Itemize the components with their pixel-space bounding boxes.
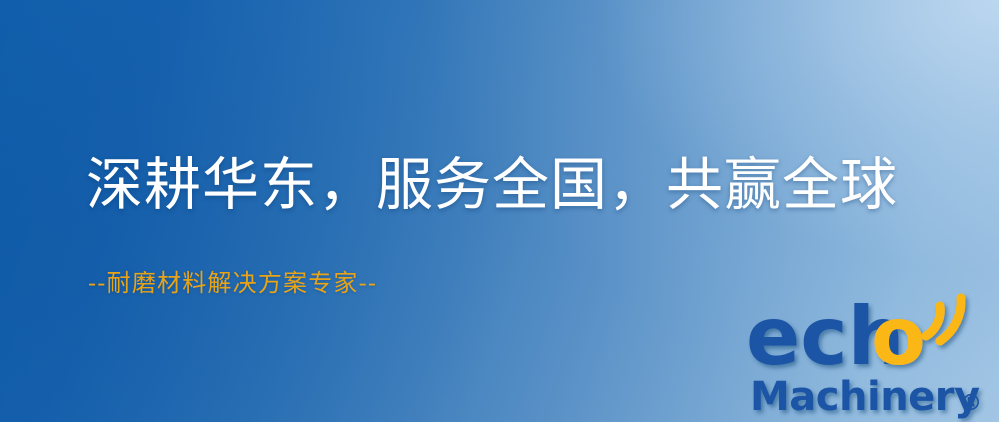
logo-registered-mark: ® bbox=[960, 391, 982, 416]
logo-tagline: Machinery bbox=[750, 374, 980, 420]
banner-subtitle: --耐磨材料解决方案专家-- bbox=[88, 268, 377, 298]
echo-wave-arcs bbox=[926, 298, 961, 341]
logo-wordmark-o: o bbox=[871, 290, 926, 383]
echo-machinery-logo: ech o Machinery ® bbox=[744, 292, 999, 422]
banner-headline: 深耕华东，服务全国，共赢全球 bbox=[86, 152, 898, 219]
promo-banner: 深耕华东，服务全国，共赢全球 --耐磨材料解决方案专家-- ech o bbox=[0, 0, 999, 422]
